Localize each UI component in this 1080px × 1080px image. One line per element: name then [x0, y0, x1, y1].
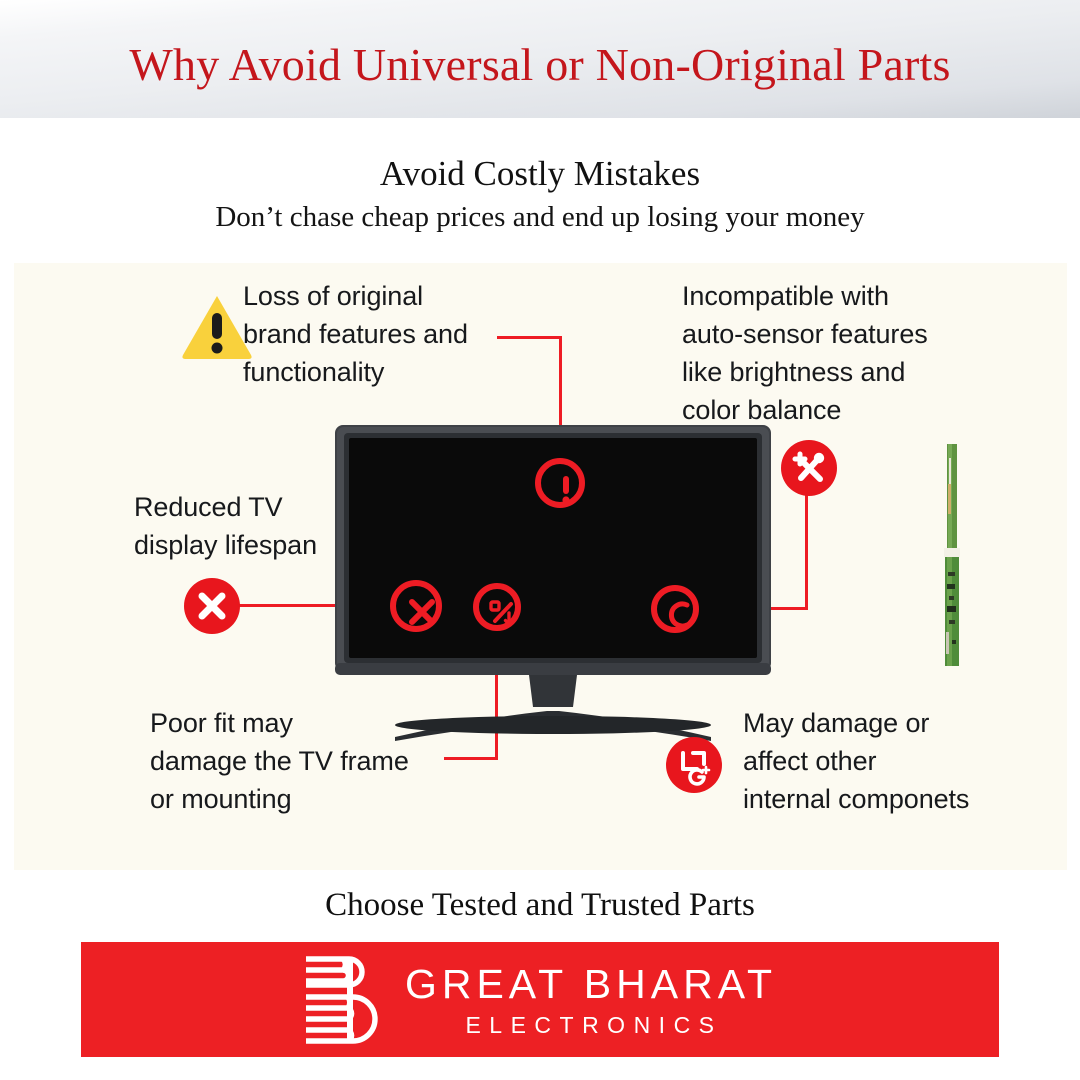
export-arrow-icon [666, 737, 722, 793]
callout-line: affect other [743, 742, 969, 780]
callout-line: like brightness and [682, 353, 928, 391]
callout-line: color balance [682, 391, 928, 429]
subtitle-block: Avoid Costly Mistakes Don’t chase cheap … [0, 152, 1080, 236]
brand-name: GREAT BHARAT [405, 961, 777, 1007]
callout-line: functionality [243, 353, 468, 391]
callout-line: or mounting [150, 780, 409, 818]
callout-line: Poor fit may [150, 704, 409, 742]
connector-line-loss [497, 336, 562, 339]
callout-internal-damage: May damage or affect other internal comp… [743, 704, 969, 818]
callout-reduced-lifespan: Reduced TV display lifespan [134, 488, 317, 564]
brightness-contrast-icon [651, 585, 699, 633]
circuit-board-strip [938, 444, 966, 666]
connector-line-poorfit-h [444, 757, 498, 760]
percent-down-icon [473, 583, 521, 631]
subtitle-heading: Avoid Costly Mistakes [0, 152, 1080, 196]
callout-line: display lifespan [134, 526, 317, 564]
x-mark-icon [184, 578, 240, 634]
callout-line: auto-sensor features [682, 315, 928, 353]
brand-footer-banner: GREAT BHARAT ELECTRONICS [81, 942, 999, 1057]
callout-line: damage the TV frame [150, 742, 409, 780]
infographic-poster: Why Avoid Universal or Non-Original Part… [0, 0, 1080, 1080]
connector-line-sensor-v [805, 494, 808, 610]
callout-incompatible-sensors: Incompatible with auto-sensor features l… [682, 277, 928, 429]
exclamation-mark-icon [535, 458, 585, 508]
callout-poor-fit-damage: Poor fit may damage the TV frame or moun… [150, 704, 409, 818]
callout-line: Reduced TV [134, 488, 317, 526]
brand-subtitle: ELECTRONICS [459, 1011, 722, 1039]
callout-loss-of-features: Loss of original brand features and func… [243, 277, 468, 391]
great-bharat-b-logo [303, 953, 379, 1047]
callout-line: Loss of original [243, 277, 468, 315]
callout-line: brand features and [243, 315, 468, 353]
callout-line: Incompatible with [682, 277, 928, 315]
subtitle-tagline: Don’t chase cheap prices and end up losi… [0, 198, 1080, 236]
page-title: Why Avoid Universal or Non-Original Part… [0, 38, 1080, 92]
callout-line: May damage or [743, 704, 969, 742]
footer-tagline: Choose Tested and Trusted Parts [0, 885, 1080, 925]
callout-line: internal componets [743, 780, 969, 818]
crossed-tools-icon [781, 440, 837, 496]
x-mark-icon [390, 580, 442, 632]
